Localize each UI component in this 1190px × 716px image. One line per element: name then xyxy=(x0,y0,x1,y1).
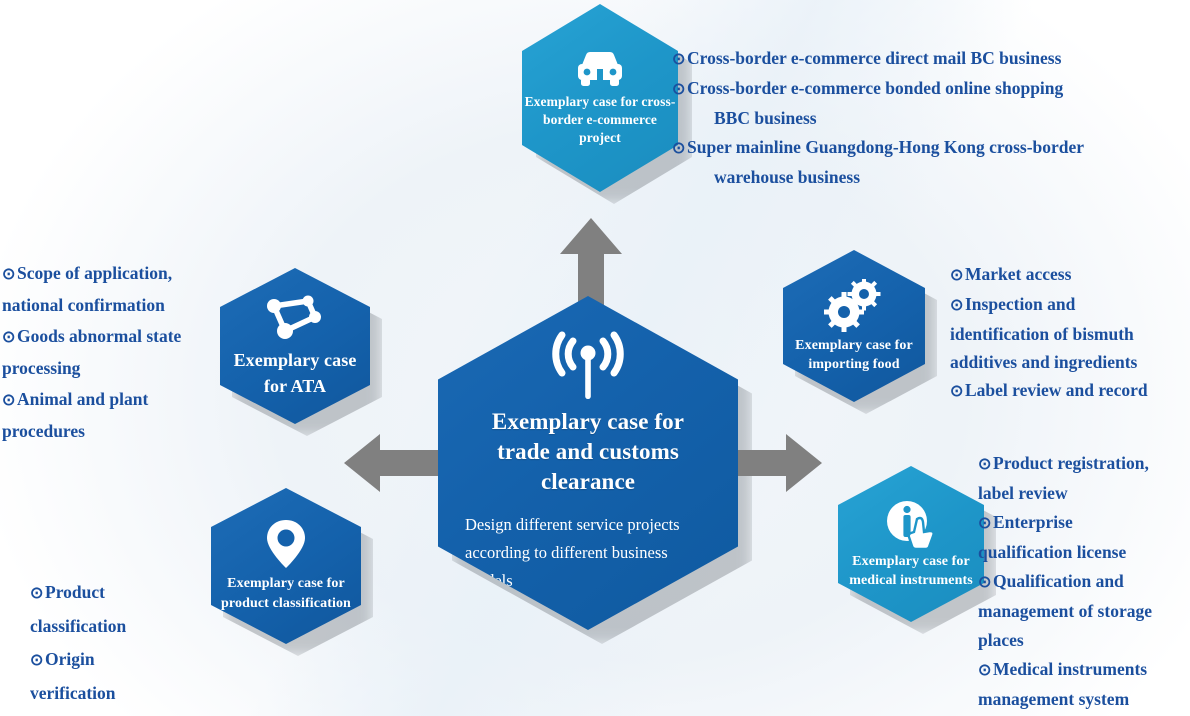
bullet-text-continuation: identification of bismuth additives and … xyxy=(950,320,1190,376)
bullet-text: Animal and plant xyxy=(17,389,148,409)
bullets-food: ⊙Market access⊙Inspection andidentificat… xyxy=(950,260,1190,406)
bullet-text-continuation: processing xyxy=(2,353,230,384)
bullet-item: ⊙Market access xyxy=(950,260,1190,290)
gears-icon xyxy=(824,279,884,333)
bullet-text: Product registration, xyxy=(993,453,1149,473)
bullet-marker-icon: ⊙ xyxy=(950,262,965,290)
center-hex-title: Exemplary case for trade and customs cle… xyxy=(468,407,708,497)
bullet-marker-icon: ⊙ xyxy=(978,450,993,479)
bullet-text: Enterprise xyxy=(993,512,1073,532)
bullet-item: ⊙Cost accounting xyxy=(30,710,240,716)
bullet-marker-icon: ⊙ xyxy=(30,577,45,610)
network-nodes-icon xyxy=(263,293,327,341)
bullet-item: ⊙Medical instruments xyxy=(978,655,1190,685)
bullet-item: ⊙Scope of application, xyxy=(2,258,230,290)
bullet-text-continuation: verification xyxy=(30,677,240,710)
bullet-text: Market access xyxy=(965,264,1071,284)
bullet-item: ⊙Cross-border e-commerce bonded online s… xyxy=(672,74,1188,104)
food-hex-label: Exemplary case for importing food xyxy=(784,336,924,374)
bullet-text: Inspection and xyxy=(965,294,1075,314)
bullet-marker-icon: ⊙ xyxy=(672,75,687,104)
bullet-text: Goods abnormal state xyxy=(17,326,181,346)
bullets-product: ⊙Productclassification⊙Originverificatio… xyxy=(30,576,240,716)
bullet-text-continuation: qualification license xyxy=(978,538,1190,567)
bullet-text: Label review and record xyxy=(965,380,1148,400)
bullet-item: ⊙Qualification and xyxy=(978,567,1190,597)
bullet-marker-icon: ⊙ xyxy=(978,568,993,597)
bullet-marker-icon: ⊙ xyxy=(30,711,45,716)
bullet-text: Cross-border e-commerce direct mail BC b… xyxy=(687,48,1061,68)
bullet-text: Super mainline Guangdong-Hong Kong cross… xyxy=(687,137,1084,157)
bullets-ata: ⊙Scope of application,national confirmat… xyxy=(2,258,230,447)
bullet-marker-icon: ⊙ xyxy=(978,656,993,685)
bullet-text: Qualification and xyxy=(993,571,1124,591)
bullet-marker-icon: ⊙ xyxy=(978,509,993,538)
bullet-item: ⊙Super mainline Guangdong-Hong Kong cros… xyxy=(672,133,1188,163)
info-hand-icon xyxy=(884,499,938,549)
bullet-text-continuation: management system xyxy=(978,685,1190,714)
map-pin-icon xyxy=(265,518,307,570)
bullet-item: ⊙Label review and record xyxy=(950,376,1190,406)
bullet-text-continuation: label review xyxy=(978,479,1190,508)
bullet-marker-icon: ⊙ xyxy=(950,292,965,320)
bullets-ecommerce: ⊙Cross-border e-commerce direct mail BC … xyxy=(672,44,1188,192)
bullet-item: ⊙Goods abnormal state xyxy=(2,321,230,353)
bullet-item: ⊙Cross-border e-commerce direct mail BC … xyxy=(672,44,1188,74)
ata-hex-label: Exemplary case for ATA xyxy=(220,347,370,399)
bullet-text-continuation: national confirmation xyxy=(2,290,230,321)
bullet-text-continuation: procedures xyxy=(2,416,230,447)
bullet-text-continuation: BBC business xyxy=(672,104,1188,133)
arrow-right xyxy=(736,434,822,492)
bullet-item: ⊙Product xyxy=(30,576,240,610)
bullet-marker-icon: ⊙ xyxy=(950,378,965,406)
bullet-text-continuation: classification xyxy=(30,610,240,643)
bullet-item: ⊙Origin xyxy=(30,643,240,677)
diagram-canvas: Exemplary case for trade and customs cle… xyxy=(0,0,1190,716)
bullet-text: Product xyxy=(45,582,105,602)
bullets-medical: ⊙Product registration,label review⊙Enter… xyxy=(978,449,1190,714)
bullet-marker-icon: ⊙ xyxy=(2,322,17,353)
bullet-marker-icon: ⊙ xyxy=(2,259,17,290)
car-icon xyxy=(574,49,626,89)
bullet-text-continuation: warehouse business xyxy=(672,163,1188,192)
bullet-item: ⊙Animal and plant xyxy=(2,384,230,416)
broadcast-antenna-icon xyxy=(547,331,629,401)
bullet-text: Scope of application, xyxy=(17,263,172,283)
bullet-marker-icon: ⊙ xyxy=(30,644,45,677)
arrow-left xyxy=(344,434,440,492)
bullet-item: ⊙Enterprise xyxy=(978,508,1190,538)
bullet-item: ⊙Inspection and xyxy=(950,290,1190,320)
bullet-marker-icon: ⊙ xyxy=(672,45,687,74)
bullet-text: Cross-border e-commerce bonded online sh… xyxy=(687,78,1063,98)
bullet-marker-icon: ⊙ xyxy=(2,385,17,416)
bullet-marker-icon: ⊙ xyxy=(672,134,687,163)
bullet-item: ⊙Product registration, xyxy=(978,449,1190,479)
bullet-text: Medical instruments xyxy=(993,659,1147,679)
ecommerce-hex-label: Exemplary case for cross-border e-commer… xyxy=(524,93,676,147)
medical-hex-label: Exemplary case for medical instruments xyxy=(839,552,983,590)
bullet-text: Origin xyxy=(45,649,95,669)
bullet-text-continuation: management of storage places xyxy=(978,597,1190,655)
